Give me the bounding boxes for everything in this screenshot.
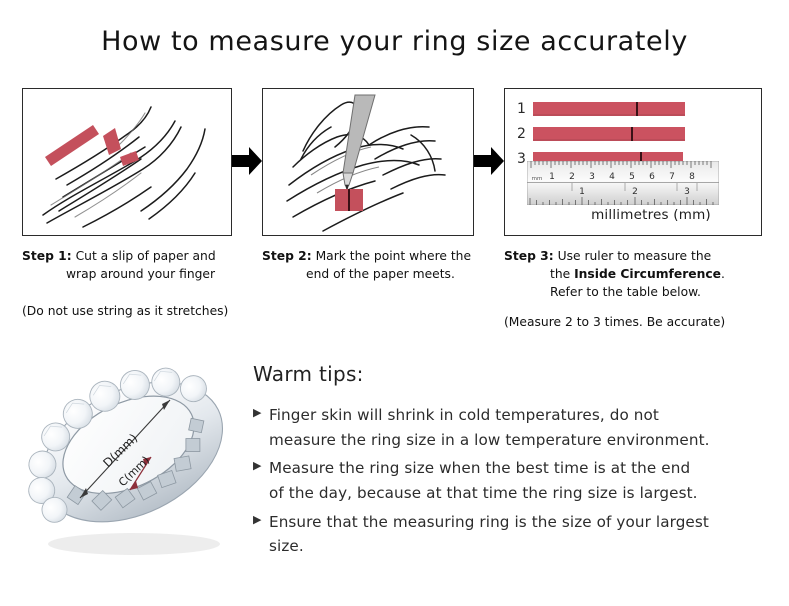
step-1-illustration-panel: [22, 88, 232, 236]
paper-strip-red: [45, 125, 139, 166]
arrow-separator-1: [232, 144, 262, 178]
step-3-line2-prefix: the: [550, 267, 574, 281]
svg-text:1: 1: [579, 187, 585, 197]
svg-text:6: 6: [649, 172, 655, 182]
arrow-separator-2: [474, 144, 504, 178]
svg-text:4: 4: [609, 172, 615, 182]
step-3-label: Step 3:: [504, 249, 554, 263]
step-1-line1: Cut a slip of paper and: [76, 249, 216, 263]
tip-text: Ensure that the measuring ring is the si…: [269, 510, 709, 559]
step-2-line2: end of the paper meets.: [262, 266, 474, 284]
step-2-label: Step 2:: [262, 249, 312, 263]
step-3-column: 1 2 3: [504, 88, 762, 329]
tip-item: ▶ Finger skin will shrink in cold temper…: [253, 403, 773, 452]
step-3-line2-suffix: .: [721, 267, 725, 281]
strip-number: 1: [517, 101, 533, 117]
ruler-icon: 12 34 56 78 mm 123: [527, 161, 719, 205]
step-1-caption: Step 1: Cut a slip of paper and wrap aro…: [22, 248, 232, 284]
strip-row: 1: [517, 99, 753, 119]
step-2-caption: Step 2: Mark the point where the end of …: [262, 248, 474, 284]
strip-row: 2: [517, 124, 753, 144]
warm-tips-section: Warm tips: ▶ Finger skin will shrink in …: [253, 362, 773, 563]
step-1-note: (Do not use string as it stretches): [22, 304, 232, 318]
svg-text:5: 5: [629, 172, 635, 182]
hand-marking-paper-icon: [263, 89, 472, 234]
svg-text:3: 3: [589, 172, 595, 182]
svg-text:1: 1: [549, 172, 555, 182]
svg-text:8: 8: [689, 172, 695, 182]
step-1-label: Step 1:: [22, 249, 72, 263]
steps-row: Step 1: Cut a slip of paper and wrap aro…: [0, 88, 789, 338]
svg-text:2: 2: [569, 172, 575, 182]
ruler-caption: millimetres (mm): [505, 207, 762, 223]
svg-text:7: 7: [669, 172, 675, 182]
tip-text: Measure the ring size when the best time…: [269, 456, 698, 505]
strip-number: 2: [517, 126, 533, 142]
step-1-column: Step 1: Cut a slip of paper and wrap aro…: [22, 88, 232, 318]
step-3-note: (Measure 2 to 3 times. Be accurate): [504, 315, 762, 329]
right-arrow-icon: [474, 144, 504, 178]
bullet-triangle-icon: ▶: [253, 403, 269, 418]
step-3-caption: Step 3: Use ruler to measure the the Ins…: [504, 248, 762, 301]
warm-tips-title: Warm tips:: [253, 362, 773, 386]
tip-1-line2: measure the ring size in a low temperatu…: [269, 431, 710, 449]
hand-with-paper-strip-icon: [23, 89, 230, 234]
step-3-illustration-panel: 1 2 3: [504, 88, 762, 236]
step-3-line3: Refer to the table below.: [504, 284, 762, 302]
lower-section: D(mm) C(mm) Warm tips: ▶ Finger skin wil…: [0, 340, 789, 606]
step-1-line2: wrap around your finger: [22, 266, 232, 284]
ruler-mm-unit-label: mm: [532, 176, 543, 182]
step-2-illustration-panel: [262, 88, 474, 236]
tip-1-line1: Finger skin will shrink in cold temperat…: [269, 406, 659, 424]
paper-strip-red-marked: [335, 189, 363, 211]
svg-text:3: 3: [684, 187, 690, 197]
bullet-triangle-icon: ▶: [253, 456, 269, 471]
diamond-ring-diagram-icon: D(mm) C(mm): [18, 348, 246, 563]
tip-2-line2: of the day, because at that time the rin…: [269, 484, 698, 502]
tip-3-line1: Ensure that the measuring ring is the si…: [269, 513, 709, 531]
step-3-inside-circumference: Inside Circumference: [574, 267, 721, 281]
pen-shape: [343, 95, 375, 191]
step-2-column: Step 2: Mark the point where the end of …: [262, 88, 474, 284]
strip-mark-1: [636, 102, 638, 116]
red-strip-1: [533, 102, 685, 116]
strip-mark-2: [631, 127, 633, 141]
tip-item: ▶ Ensure that the measuring ring is the …: [253, 510, 773, 559]
ring-figure: D(mm) C(mm): [18, 348, 246, 563]
tip-text: Finger skin will shrink in cold temperat…: [269, 403, 710, 452]
step-2-line1: Mark the point where the: [316, 249, 471, 263]
right-arrow-icon: [232, 144, 262, 178]
tip-2-line1: Measure the ring size when the best time…: [269, 459, 690, 477]
tip-3-line2: size.: [269, 537, 304, 555]
bullet-triangle-icon: ▶: [253, 510, 269, 525]
tip-item: ▶ Measure the ring size when the best ti…: [253, 456, 773, 505]
svg-text:2: 2: [632, 187, 638, 197]
step-3-line2: the Inside Circumference.: [504, 266, 762, 284]
red-strip-2: [533, 127, 685, 141]
page-title: How to measure your ring size accurately: [0, 26, 789, 57]
step-3-line1: Use ruler to measure the: [558, 249, 712, 263]
